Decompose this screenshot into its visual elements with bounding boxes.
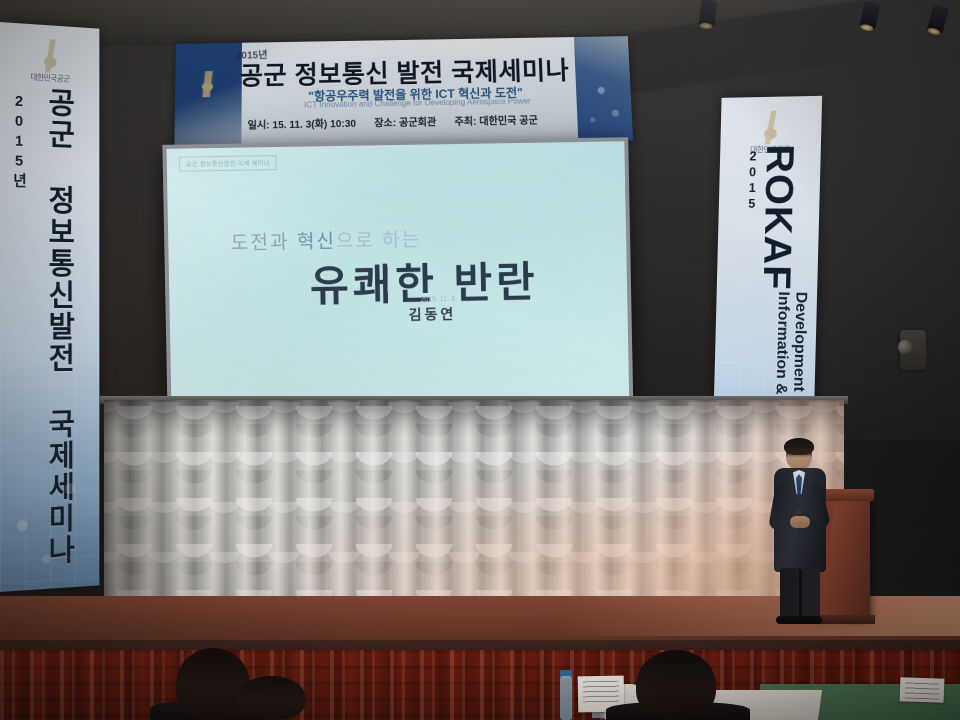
audience-head [236, 676, 306, 720]
slide-subtitle-accent: 혁신 [297, 231, 336, 253]
banner-info-venue-value: 공군회관 [399, 117, 436, 129]
top-horizontal-banner: 2015년 공군 정보통신 발전 국제세미나 "항공우주력 발전을 위한 ICT… [174, 36, 633, 148]
right-banner-acronym: ROKAF [754, 144, 801, 291]
slide-subtitle-post: 으로 하는 [336, 230, 422, 253]
banner-info-host-label: 주최: [454, 117, 476, 129]
air-force-emblem-icon [185, 71, 230, 98]
slide-subtitle-pre: 도전 [231, 232, 271, 254]
ceiling-spotlight-icon [699, 0, 718, 27]
air-force-emblem-icon [745, 110, 796, 144]
left-banner-emblem-text: 대한민국공군 [31, 72, 70, 85]
slide-date: 2015. 11. 3 [420, 296, 455, 304]
name-card-text-lines [583, 681, 619, 707]
banner-info-datetime: 일시: 15. 11. 3(화) 10:30 [248, 115, 357, 132]
projection-screen: 공군 정보통신발전 국제 세미나 도전과 혁신으로 하는 유쾌한 반란 2015… [166, 141, 629, 418]
top-banner-info-row: 일시: 15. 11. 3(화) 10:30 장소: 공군회관 주최: 대한민국… [248, 111, 576, 132]
projection-screen-frame: 공군 정보통신발전 국제 세미나 도전과 혁신으로 하는 유쾌한 반란 2015… [162, 137, 633, 422]
banner-left-blue-panel [174, 43, 242, 149]
speaker-leg-divider [799, 570, 802, 616]
slide-subtitle-conj: 과 [270, 232, 290, 253]
banner-info-venue-label: 장소: [374, 118, 396, 130]
banner-info-datetime-label: 일시: [248, 120, 270, 132]
left-vertical-banner: 대한민국공군 2015년 공군 정보통신발전 국제세미나 [0, 22, 99, 592]
name-card-text-lines [905, 682, 940, 700]
place-name-card [900, 677, 945, 703]
banner-info-venue: 장소: 공군회관 [374, 113, 436, 129]
left-banner-title: 공군 정보통신발전 국제세미나 [37, 86, 79, 568]
audience-head [636, 650, 716, 720]
left-banner-year: 2015년 [9, 92, 29, 190]
banner-info-host: 주최: 대한민국 공군 [454, 112, 538, 129]
speaker-hair [784, 438, 814, 455]
speaker-shoes [776, 616, 822, 624]
air-force-emblem-icon [25, 38, 75, 75]
slide-author: 김동연 [408, 304, 456, 325]
slide-header-box: 공군 정보통신발전 국제 세미나 [179, 155, 277, 172]
seminar-stage-photo: 대한민국공군 2015년 공군 정보통신발전 국제세미나 대한민국공군 2015… [0, 0, 960, 720]
water-bottle [560, 676, 572, 720]
banner-info-datetime-value: 15. 11. 3(화) 10:30 [272, 119, 356, 132]
banner-info-host-value: 대한민국 공군 [479, 116, 538, 128]
speaker-hands [790, 516, 810, 528]
stage-curtain [104, 400, 844, 608]
stage-floor-spill-light [560, 596, 960, 636]
speaker-person [770, 440, 832, 622]
wall-camera-icon [898, 340, 912, 354]
